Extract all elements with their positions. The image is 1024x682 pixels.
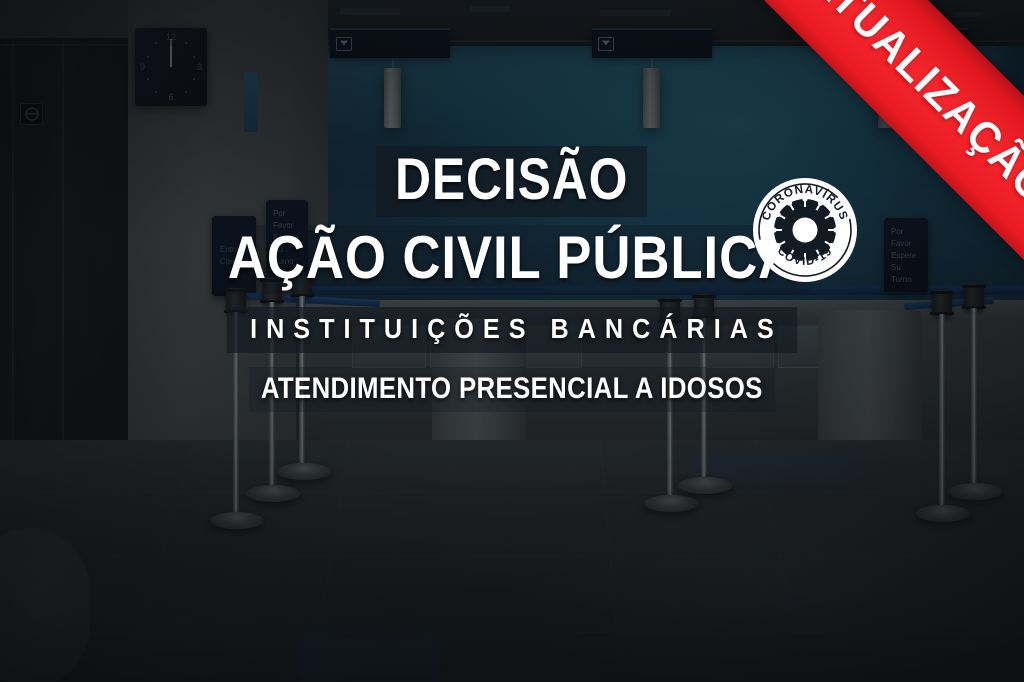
headline-line-atendimento: ATENDIMENTO PRESENCIAL A IDOSOS (249, 367, 775, 412)
headline-line-acao-civil-publica: AÇÃO CIVIL PÚBLICA (213, 225, 810, 295)
poster-image: 12 3 6 9 (0, 0, 1024, 682)
coronavirus-covid19-badge: CORONAVÍRUS COVID-19 (749, 174, 861, 286)
headline-line-instituicoes-bancarias: INSTITUIÇÕES BANCÁRIAS (227, 307, 797, 353)
headline-block: DECISÃO AÇÃO CIVIL PÚBLICA INSTITUIÇÕES … (0, 146, 1024, 412)
headline-line-decisao: DECISÃO (376, 146, 647, 217)
